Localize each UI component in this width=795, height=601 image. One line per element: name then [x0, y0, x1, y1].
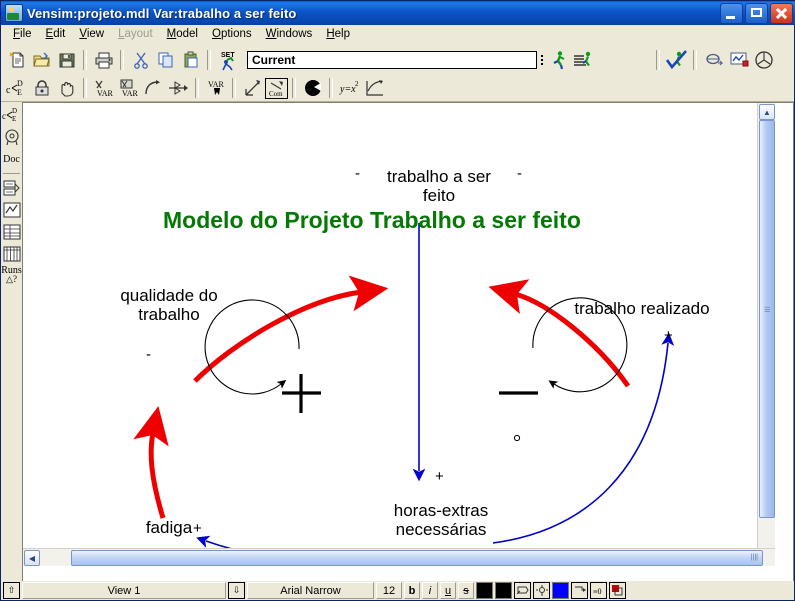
print-icon[interactable] — [91, 48, 116, 72]
new-model-icon[interactable] — [4, 48, 29, 72]
set-runname-icon[interactable]: SET — [215, 48, 245, 72]
analysis-sidebar: c D E Doc — [1, 102, 22, 581]
node-horas-extras-necessarias[interactable]: horas-extras necessárias — [361, 501, 521, 539]
view-down-button[interactable]: ⇩ — [228, 582, 245, 599]
svg-text:y=x: y=x — [339, 84, 356, 95]
node-fadiga[interactable]: fadiga — [119, 518, 219, 537]
node-line: qualidade do — [93, 286, 245, 305]
doc-label: Doc — [3, 154, 20, 165]
causes-strip-icon[interactable] — [2, 177, 22, 199]
status-view[interactable]: View 1 — [22, 582, 226, 599]
node-line: feito — [369, 186, 509, 205]
link-fadiga-to-qualidade — [151, 433, 163, 518]
toolbar-separator — [83, 50, 87, 70]
paste-icon[interactable] — [178, 48, 203, 72]
svg-text:Com: Com — [269, 90, 283, 97]
runs-compare-icon[interactable]: Runs △? — [2, 265, 22, 285]
loops-icon[interactable] — [2, 126, 22, 148]
horizontal-scroll-thumb[interactable]: |||| — [71, 550, 763, 566]
minimize-button[interactable] — [720, 3, 743, 24]
toolbar-separator — [120, 50, 124, 70]
move-size-icon[interactable] — [54, 76, 79, 100]
vertical-scroll-thumb[interactable]: ☰ — [759, 120, 775, 518]
fill-color-swatch[interactable] — [552, 582, 569, 599]
svg-text:VAR: VAR — [208, 80, 225, 89]
toolbar-separator — [195, 78, 199, 98]
diagram-title: Modelo do Projeto Trabalho a ser feito — [163, 207, 581, 234]
node-line: fadiga — [119, 518, 219, 537]
svg-text:VAR: VAR — [122, 89, 139, 98]
node-trabalho-a-ser-feito[interactable]: trabalho a ser feito — [369, 167, 509, 205]
node-line: trabalho a ser — [369, 167, 509, 186]
svg-text:c: c — [2, 111, 6, 121]
polarity-sign: - — [146, 346, 151, 363]
svg-text:c: c — [6, 85, 11, 96]
runs-glyph: △? — [6, 275, 17, 284]
window-title: Vensim:projeto.mdl Var:trabalho a ser fe… — [27, 6, 296, 21]
info-icon[interactable] — [751, 48, 776, 72]
dataset-combo[interactable]: Current — [247, 51, 537, 69]
output-icon[interactable] — [726, 48, 751, 72]
arrow-icon[interactable] — [141, 76, 166, 100]
overflow-dots-icon[interactable] — [537, 50, 546, 70]
node-line: trabalho realizado — [560, 299, 724, 318]
strike-button[interactable]: s — [458, 582, 474, 599]
vertical-scrollbar[interactable]: ▲ ☰ ▼ — [757, 103, 775, 565]
svg-text:D: D — [17, 79, 23, 88]
status-font-size-label: 12 — [383, 585, 395, 597]
main-toolbar: SET Current — [1, 46, 794, 74]
svg-text:VAR: VAR — [97, 89, 114, 98]
causal-tracing-icon[interactable]: c D E — [4, 76, 29, 100]
node-qualidade-do-trabalho[interactable]: qualidade do trabalho — [93, 286, 245, 324]
menu-help[interactable]: Help — [319, 27, 357, 41]
pattern-icon[interactable] — [533, 582, 550, 599]
sketch-canvas-frame: Modelo do Projeto Trabalho a ser feito t… — [22, 102, 794, 582]
copy-icon[interactable] — [153, 48, 178, 72]
node-line: trabalho — [93, 305, 245, 324]
dataset-value: Current — [252, 53, 295, 67]
svg-text:E: E — [12, 115, 16, 123]
menu-bar: FFileile Edit View Layout Model Options … — [1, 25, 794, 42]
polarity-sign: + — [193, 520, 202, 537]
box-variable-icon[interactable]: VAR — [116, 76, 141, 100]
node-line: horas-extras — [361, 501, 521, 520]
title-bar: Vensim:projeto.mdl Var:trabalho a ser fe… — [1, 1, 795, 25]
node-trabalho-realizado[interactable]: trabalho realizado — [560, 299, 724, 318]
status-font-size[interactable]: 12 — [376, 582, 402, 599]
lock-icon[interactable] — [29, 76, 54, 100]
status-view-label: View 1 — [108, 585, 141, 597]
reality-check-icon[interactable] — [701, 48, 726, 72]
polarity-sign: - — [517, 165, 522, 182]
sketch-toolbar: c D E VAR — [1, 75, 794, 102]
scroll-left-button[interactable]: ◀ — [24, 550, 40, 566]
node-line: necessárias — [361, 520, 521, 539]
polarity-sign: - — [355, 165, 360, 182]
check-run-icon[interactable] — [664, 48, 689, 72]
menu-model[interactable]: Model — [160, 27, 205, 41]
shape-icon[interactable] — [514, 582, 531, 599]
text-position-icon[interactable]: ≡0 — [590, 582, 607, 599]
maximize-button[interactable] — [745, 3, 768, 24]
cut-icon[interactable] — [128, 48, 153, 72]
window-controls — [720, 3, 793, 24]
sidebar-separator — [3, 173, 20, 174]
table-time-down-icon[interactable] — [2, 243, 22, 265]
comment-icon[interactable]: Com — [265, 78, 288, 99]
variable-icon[interactable]: VAR — [91, 76, 116, 100]
menu-options[interactable]: Options — [205, 27, 259, 41]
view-up-button[interactable]: ⇧ — [3, 582, 20, 599]
document-tool-icon[interactable]: Doc — [2, 148, 22, 170]
status-font-label: Arial Narrow — [280, 585, 341, 597]
rate-icon[interactable] — [166, 76, 191, 100]
svg-text:SET: SET — [221, 52, 235, 59]
menu-edit[interactable]: Edit — [39, 27, 73, 41]
delete-icon[interactable] — [300, 76, 325, 100]
svg-text:D: D — [12, 107, 17, 115]
text-color-swatch[interactable] — [476, 582, 493, 599]
underline-button[interactable]: u — [440, 582, 456, 599]
equations-icon[interactable]: y=x 2 — [337, 76, 362, 100]
svg-text:E: E — [17, 88, 22, 97]
causes-tree-icon[interactable]: c D E — [2, 104, 22, 126]
layers-icon[interactable] — [609, 582, 626, 599]
simulate-all-icon[interactable] — [571, 48, 596, 72]
svg-text:≡0: ≡0 — [593, 587, 602, 596]
sketch-canvas[interactable]: Modelo do Projeto Trabalho a ser feito t… — [23, 103, 775, 566]
shadow-variable-icon[interactable]: VAR — [203, 76, 228, 100]
polarity-sign: + — [435, 468, 444, 485]
toolbar-separator — [693, 50, 697, 70]
reference-mode-icon[interactable] — [362, 76, 387, 100]
save-icon[interactable] — [54, 48, 79, 72]
menu-windows[interactable]: Windows — [259, 27, 320, 41]
scroll-up-button[interactable]: ▲ — [759, 104, 775, 120]
menu-file[interactable]: FFileile — [6, 27, 39, 41]
status-font[interactable]: Arial Narrow — [247, 582, 374, 599]
toolbar-separator — [292, 78, 296, 98]
arrow-style-icon[interactable] — [571, 582, 588, 599]
bold-button[interactable]: b — [404, 582, 420, 599]
status-bar: ⇧ View 1 ⇩ Arial Narrow 12 b i u s — [1, 581, 794, 600]
toolbar-separator — [207, 50, 211, 70]
table-icon[interactable] — [2, 221, 22, 243]
horizontal-scrollbar[interactable]: ◀ |||| — [23, 548, 775, 566]
polarity-sign: + — [664, 327, 673, 344]
loop-polarity-icon[interactable] — [240, 76, 265, 100]
toolbar-separator — [656, 50, 660, 70]
vensim-window: Vensim:projeto.mdl Var:trabalho a ser fe… — [0, 0, 795, 601]
graph-icon[interactable] — [2, 199, 22, 221]
menu-layout: Layout — [111, 27, 160, 41]
vensim-icon — [5, 4, 23, 22]
simulate-icon[interactable] — [546, 48, 571, 72]
line-color-swatch[interactable] — [495, 582, 512, 599]
toolbar-separator — [329, 78, 333, 98]
toolbar-separator — [232, 78, 236, 98]
menu-view[interactable]: View — [72, 27, 111, 41]
svg-text:2: 2 — [355, 80, 359, 88]
open-model-icon[interactable] — [29, 48, 54, 72]
close-button[interactable] — [770, 3, 793, 24]
italic-button[interactable]: i — [422, 582, 438, 599]
toolbar-separator — [83, 78, 87, 98]
